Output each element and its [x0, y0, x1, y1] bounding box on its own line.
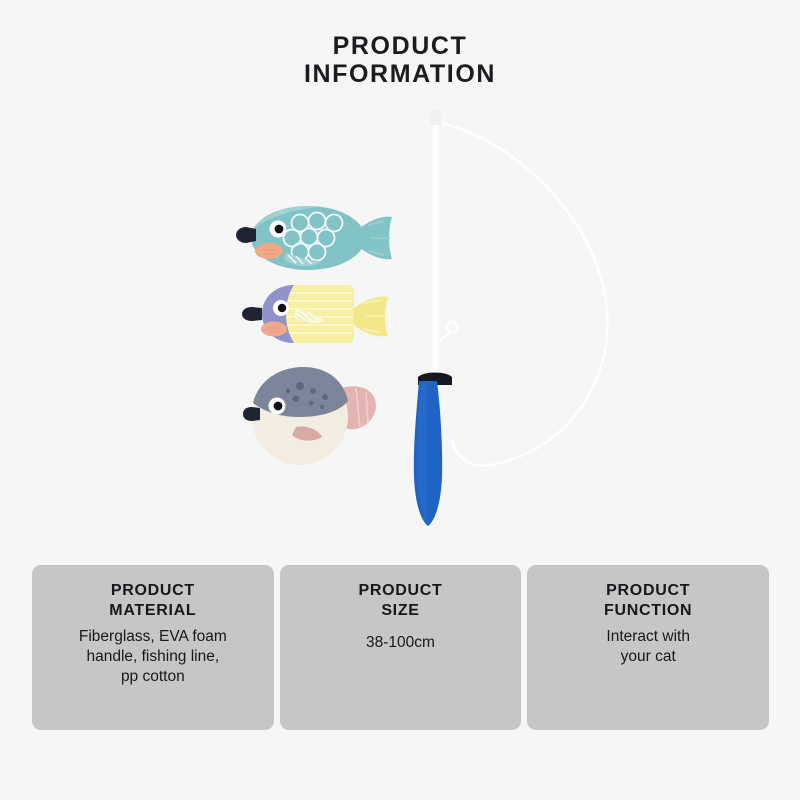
yellow-fish-pupil — [278, 304, 286, 312]
pufferfish-top-shape — [253, 367, 348, 417]
card-product-material-title: PRODUCT MATERIAL — [42, 581, 264, 621]
teal-fish-pupil — [275, 225, 284, 234]
card-product-size-body: 38-100cm — [290, 633, 512, 653]
teal-fish-snout — [236, 227, 256, 243]
yellow-striped-fish-icon — [242, 285, 388, 343]
yellow-fish-cheek — [261, 322, 287, 337]
gray-pufferfish-icon — [243, 367, 376, 465]
teal-fish-cheek — [255, 243, 283, 259]
teal-scaled-fish-icon — [236, 206, 392, 270]
fishing-line — [437, 122, 607, 466]
card-product-material: PRODUCT MATERIAL Fiberglass, EVA foam ha… — [32, 565, 274, 730]
page-title-line-2: INFORMATION — [0, 60, 800, 88]
product-illustration — [0, 105, 800, 545]
card-product-function-title: PRODUCT FUNCTION — [537, 581, 759, 621]
page-title: PRODUCT INFORMATION — [0, 32, 800, 88]
product-info-cards: PRODUCT MATERIAL Fiberglass, EVA foam ha… — [32, 565, 769, 730]
product-information-page: PRODUCT INFORMATION — [0, 0, 800, 800]
card-product-size-title: PRODUCT SIZE — [290, 581, 512, 621]
pufferfish-snout — [243, 407, 260, 421]
line-guide-ring-icon — [440, 322, 457, 341]
card-product-function-body: Interact with your cat — [537, 627, 759, 667]
pufferfish-pupil — [274, 402, 283, 411]
page-title-line-1: PRODUCT — [0, 32, 800, 60]
card-product-size: PRODUCT SIZE 38-100cm — [280, 565, 522, 730]
rod-pole-highlight — [432, 123, 434, 383]
card-product-material-body: Fiberglass, EVA foam handle, fishing lin… — [42, 627, 264, 687]
card-product-function: PRODUCT FUNCTION Interact with your cat — [527, 565, 769, 730]
rod-tip-cap-icon — [430, 109, 441, 125]
yellow-fish-snout — [242, 307, 262, 321]
fishing-rod-icon — [414, 109, 608, 526]
